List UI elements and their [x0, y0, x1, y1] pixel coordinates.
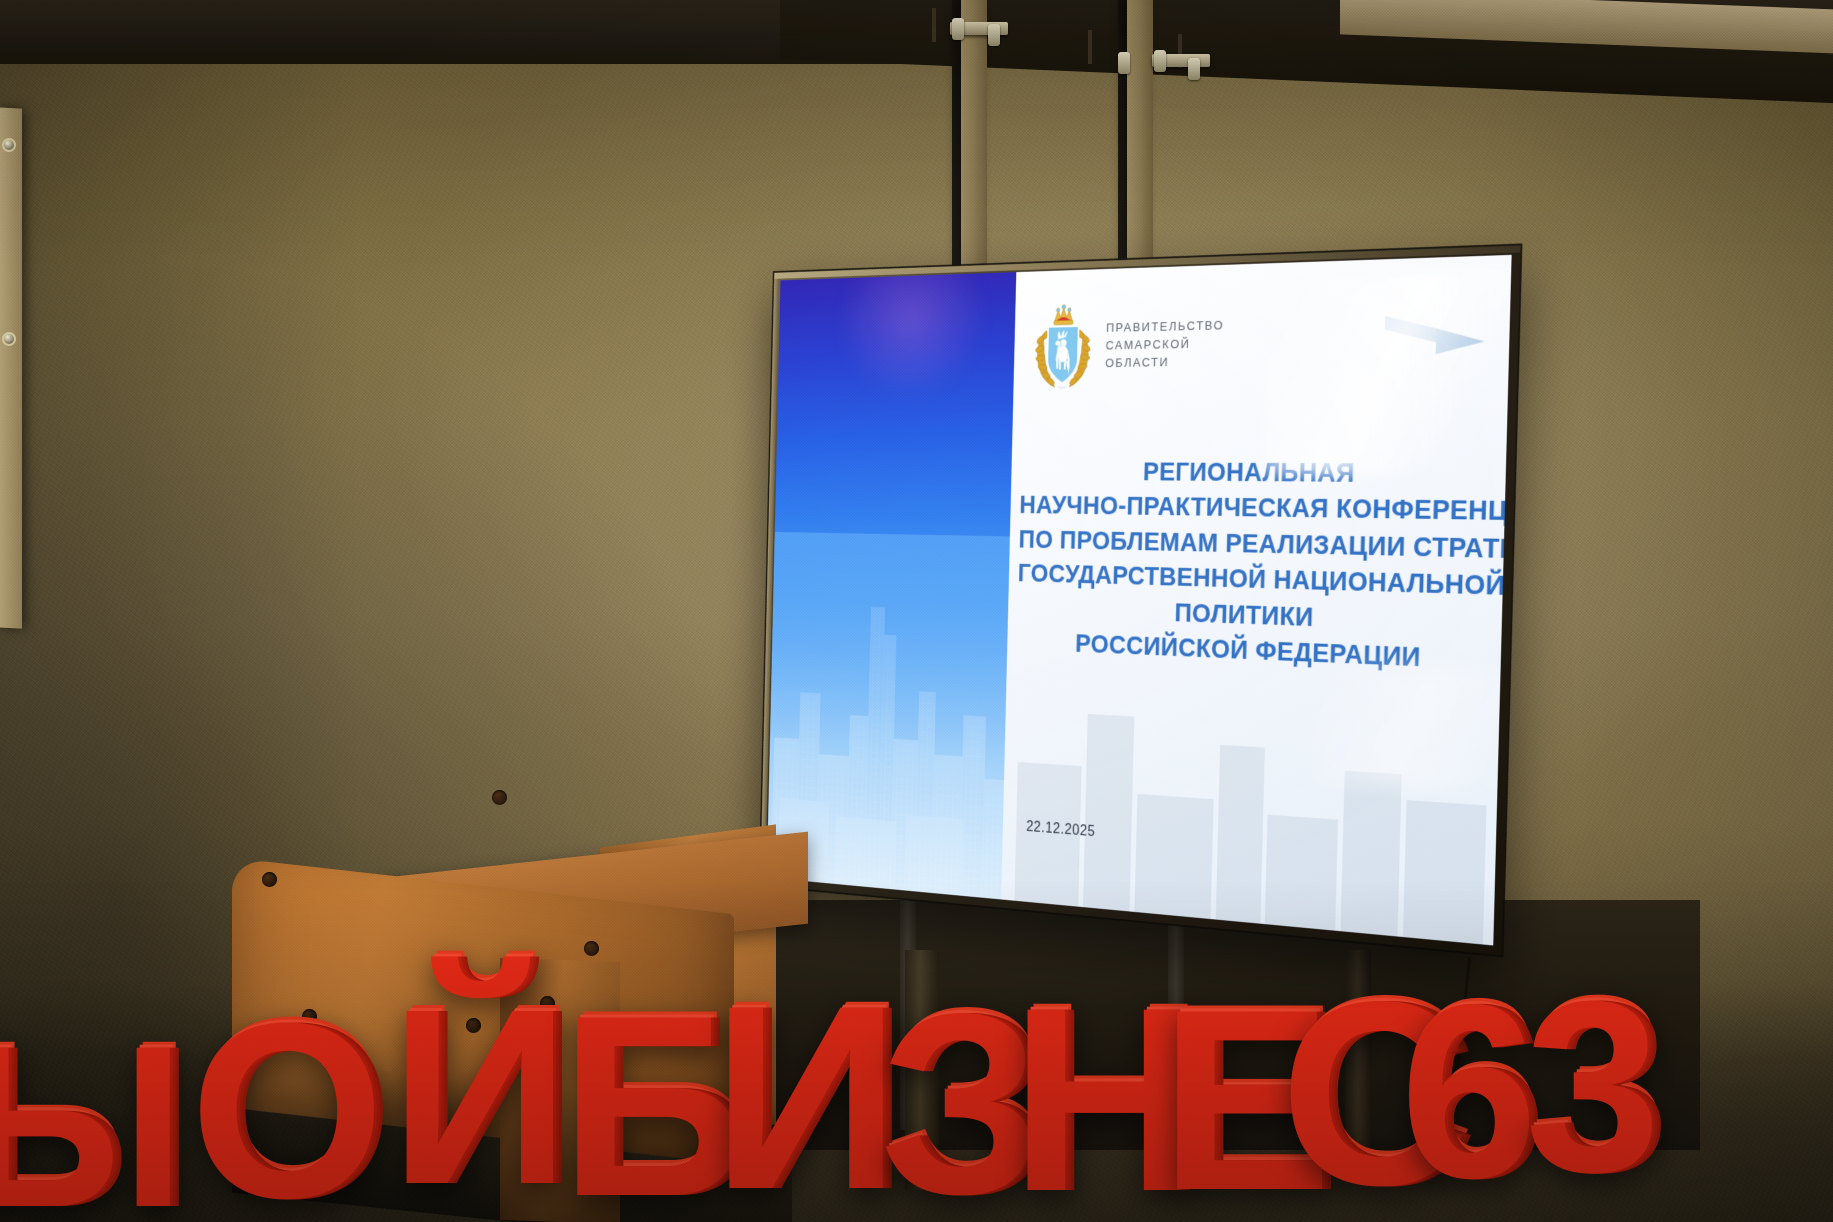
- panel-hanger-rod-1: [932, 8, 936, 42]
- tv-screen[interactable]: ПРАВИТЕЛЬСТВО САМАРСКОЙ ОБЛАСТИ РЕГИОНАЛ…: [767, 255, 1512, 946]
- government-name-text: ПРАВИТЕЛЬСТВО САМАРСКОЙ ОБЛАСТИ: [1105, 316, 1224, 372]
- slide-left-image-panel: [767, 272, 1016, 899]
- chevron-mark-icon: [1385, 307, 1486, 354]
- recess-seam-2: [1168, 900, 1184, 1130]
- screen-glare-top: [1261, 267, 1511, 476]
- left-wall-panel: [0, 107, 22, 628]
- tv-stand-pole-right: [1345, 950, 1371, 1180]
- panel-bolt-5: [1118, 52, 1130, 74]
- lower-wall-recess: [500, 900, 1700, 1150]
- panel-bolt-4: [1188, 58, 1200, 80]
- samara-coat-of-arms-icon: [1032, 301, 1093, 390]
- panel-bolt-1: [952, 18, 964, 40]
- panel-bolt-2: [988, 24, 1000, 46]
- tv-stand-pole-left: [905, 950, 939, 1190]
- conference-room-photo: ПРАВИТЕЛЬСТВО САМАРСКОЙ ОБЛАСТИ РЕГИОНАЛ…: [0, 0, 1833, 1222]
- cityscape-haze: [767, 532, 1010, 900]
- tv-bezel: ПРАВИТЕЛЬСТВО САМАРСКОЙ ОБЛАСТИ РЕГИОНАЛ…: [760, 246, 1520, 956]
- screen-reflection-purple: [837, 272, 988, 399]
- title-line-1: РЕГИОНАЛЬНАЯ: [1020, 454, 1495, 492]
- government-logo-lockup: ПРАВИТЕЛЬСТВО САМАРСКОЙ ОБЛАСТИ: [1032, 298, 1225, 391]
- left-panel-bolt-2: [2, 332, 16, 346]
- wall-mounted-television[interactable]: ПРАВИТЕЛЬСТВО САМАРСКОЙ ОБЛАСТИ РЕГИОНАЛ…: [760, 246, 1520, 956]
- left-panel-bolt-1: [2, 138, 16, 152]
- slide-title: РЕГИОНАЛЬНАЯ НАУЧНО-ПРАКТИЧЕСКАЯ КОНФЕРЕ…: [1016, 454, 1496, 679]
- slide-right-content-panel: ПРАВИТЕЛЬСТВО САМАРСКОЙ ОБЛАСТИ РЕГИОНАЛ…: [1001, 255, 1512, 946]
- panel-hanger-rod-2: [1088, 30, 1092, 64]
- panel-bolt-3: [1154, 50, 1166, 72]
